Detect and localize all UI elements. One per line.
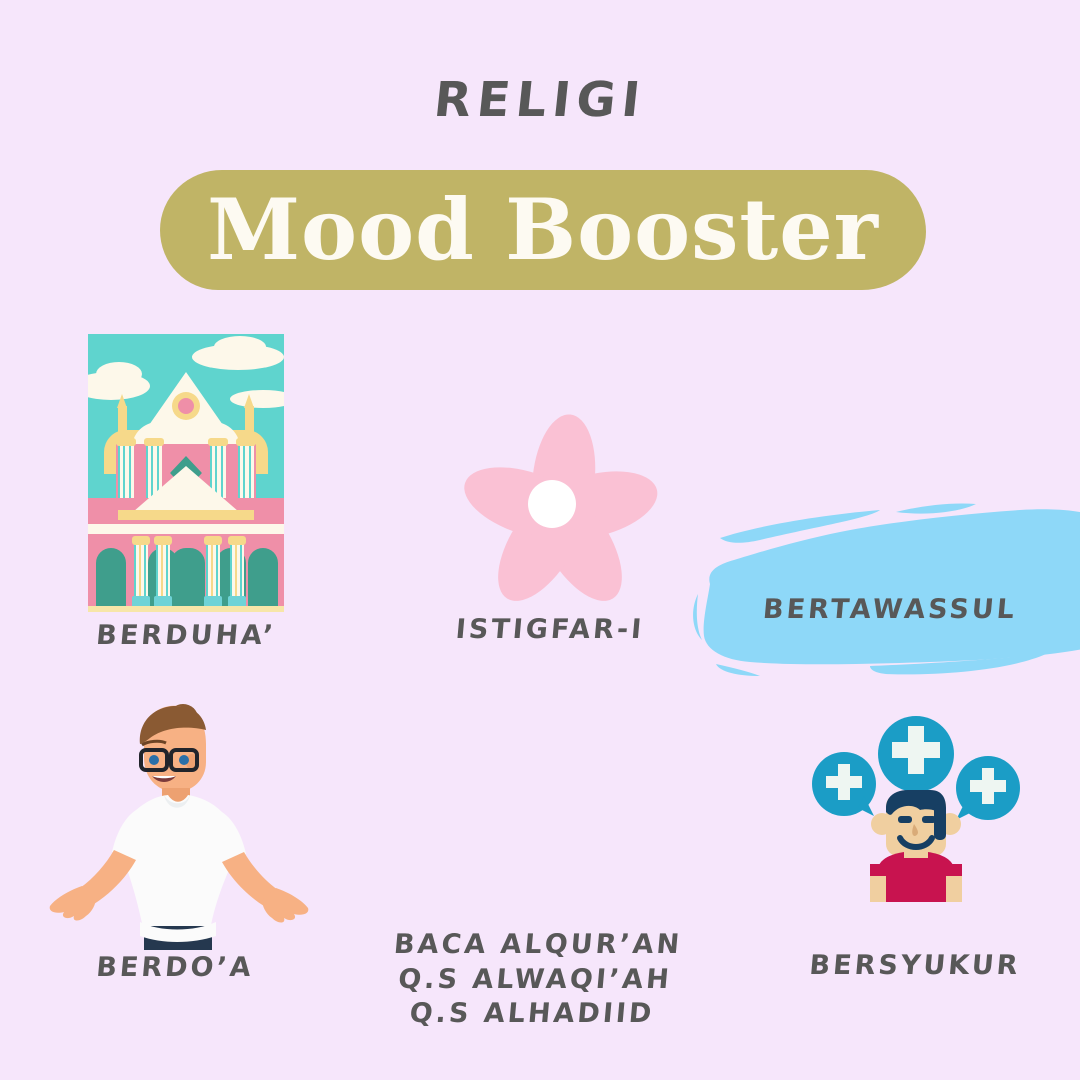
person-open-arms-illustration — [40, 700, 310, 950]
page-kicker: RELIGI — [0, 72, 1080, 128]
label-line-1: BACA ALQUR’AN — [357, 928, 720, 963]
column-capital — [154, 536, 172, 545]
item-label-bertawassul: BERTAWASSUL — [689, 594, 1080, 625]
sleeve-right — [942, 864, 962, 876]
person-shape — [40, 700, 310, 950]
label-line-3: Q.S ALHADIID — [350, 997, 713, 1032]
mosque-arch — [248, 548, 278, 610]
cloud-icon — [214, 336, 266, 358]
cloud-icon — [96, 362, 142, 386]
flower-icon — [455, 408, 645, 598]
mosque-base-band — [88, 606, 284, 612]
item-label-baca-alquran: BACA ALQUR’AN Q.S ALWAQI’AH Q.S ALHADIID — [350, 928, 719, 1032]
dome-medallion-center — [178, 398, 194, 414]
mosque-illustration — [88, 334, 284, 612]
column-capital — [204, 536, 222, 545]
title-banner: Mood Booster — [160, 170, 926, 290]
eye — [149, 755, 159, 765]
eye — [922, 816, 936, 823]
column-capital — [132, 536, 150, 545]
hair-sideburn — [934, 804, 946, 840]
column — [118, 444, 134, 506]
eye — [179, 755, 189, 765]
tshirt — [128, 795, 228, 932]
poster-canvas: RELIGI Mood Booster — [0, 0, 1080, 1080]
mosque-band — [88, 524, 284, 534]
eye — [898, 816, 912, 823]
shirt — [878, 852, 954, 902]
neck — [904, 850, 928, 858]
mosque-arch — [171, 548, 205, 610]
mosque-arch — [96, 548, 126, 610]
column — [238, 444, 254, 506]
item-label-berdoa: BERDO’A — [34, 952, 317, 983]
mosque-pediment-edge — [118, 510, 254, 520]
brush-stroke-shape — [690, 498, 1080, 676]
item-label-istigfar: ISTIGFAR-I — [419, 614, 682, 645]
person-with-plus-bubbles-icon — [808, 712, 1024, 912]
column-capital — [116, 438, 136, 446]
item-label-berduha: BERDUHA’ — [45, 620, 328, 651]
column-capital — [228, 536, 246, 545]
item-label-bersyukur: BERSYUKUR — [799, 950, 1032, 981]
page-title: Mood Booster — [160, 170, 926, 290]
flower-center — [528, 480, 576, 528]
column-capital — [236, 438, 256, 446]
column-capital — [144, 438, 164, 446]
column-capital — [208, 438, 228, 446]
label-line-2: Q.S ALWAQI’AH — [353, 963, 716, 998]
gratitude-shape — [808, 712, 1024, 912]
sleeve-left — [870, 864, 890, 876]
brush-stroke — [690, 498, 1080, 676]
